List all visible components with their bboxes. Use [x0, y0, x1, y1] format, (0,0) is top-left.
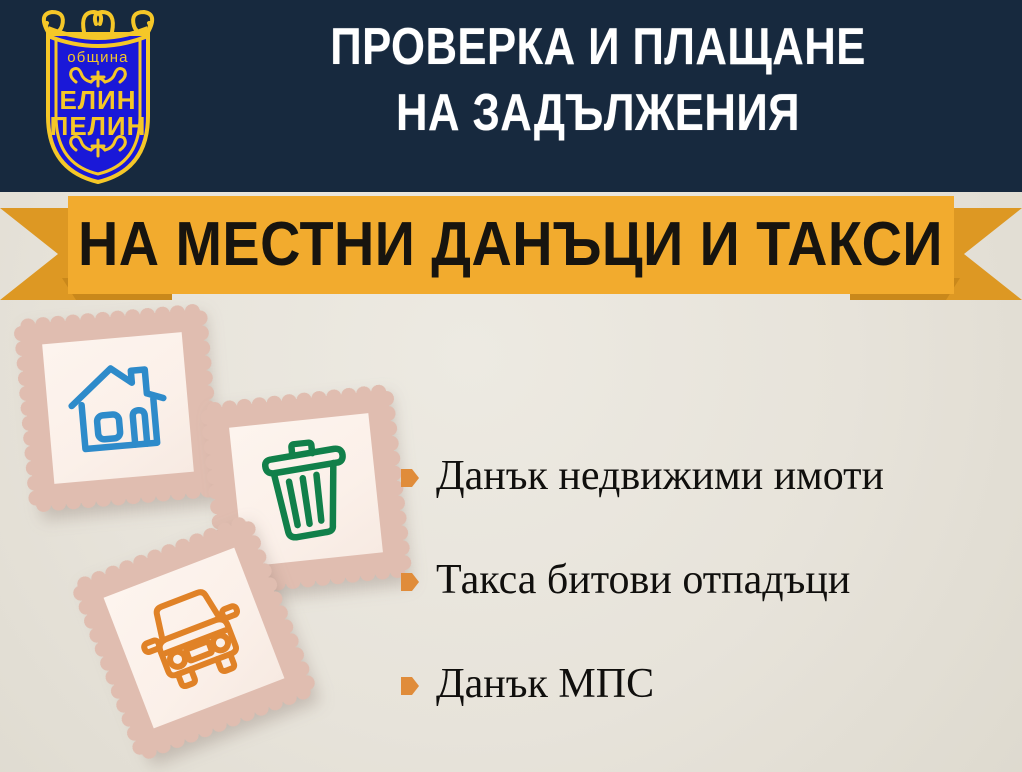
ribbon-main-panel: НА МЕСТНИ ДАНЪЦИ И ТАКСИ: [68, 196, 954, 294]
logo-line-top: община: [67, 49, 128, 66]
list-item[interactable]: Данък недвижими имоти: [400, 424, 1010, 528]
list-item[interactable]: Такса битови отпадъци: [400, 528, 1010, 632]
list-item-label: Такса битови отпадъци: [436, 557, 850, 603]
ribbon-banner: НА МЕСТНИ ДАНЪЦИ И ТАКСИ: [0, 196, 1022, 304]
stamp-paper: [42, 332, 194, 484]
poster: ПРОВЕРКА И ПЛАЩАНЕ НА ЗАДЪЛЖЕНИЯ: [0, 0, 1022, 772]
page-title: ПРОВЕРКА И ПЛАЩАНЕ НА ЗАДЪЛЖЕНИЯ: [252, 14, 944, 146]
coat-of-arms-logo: община ЕЛИН ПЕЛИН: [18, 4, 178, 186]
ribbon-label: НА МЕСТНИ ДАНЪЦИ И ТАКСИ: [79, 214, 944, 276]
arrow-bullet-icon: [400, 466, 420, 490]
trash-can-icon: [253, 435, 359, 544]
tax-type-list: Данък недвижими имоти Такса битови отпад…: [400, 424, 1010, 736]
list-item-label: Данък МПС: [436, 661, 654, 707]
arrow-bullet-icon: [400, 570, 420, 594]
arrow-bullet-icon: [400, 674, 420, 698]
car-icon: [127, 576, 261, 701]
house-icon: [62, 356, 174, 461]
list-item-label: Данък недвижими имоти: [436, 453, 884, 499]
list-item[interactable]: Данък МПС: [400, 632, 1010, 736]
logo-line-pelin: ПЕЛИН: [50, 111, 147, 141]
stamp-card-house: [20, 310, 215, 505]
